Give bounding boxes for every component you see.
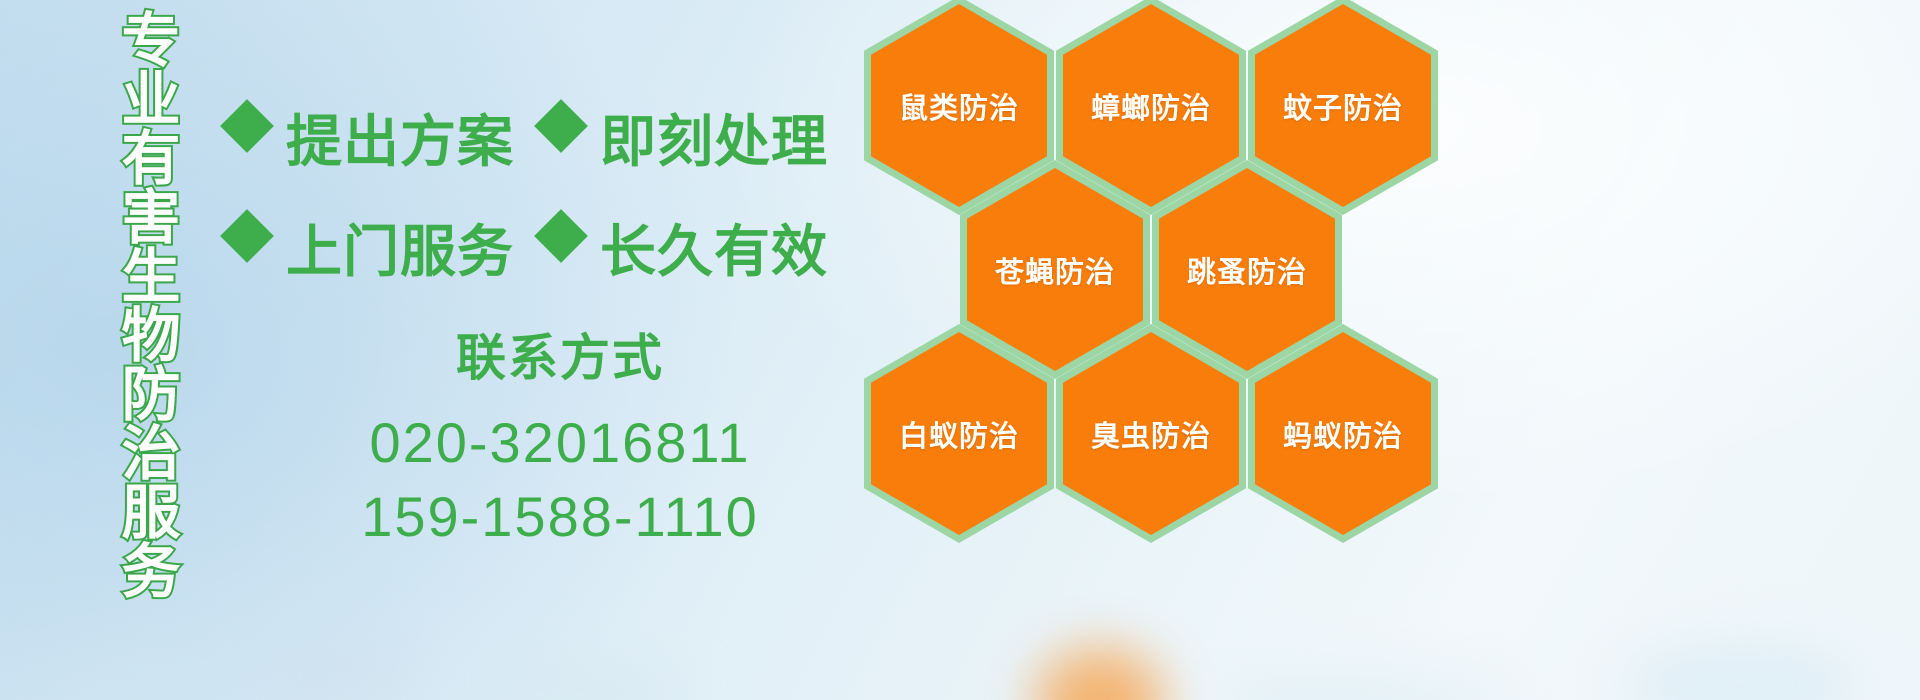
hex-inner: 跳蚤防治 [1159,168,1335,371]
service-hex-label: 蚂蚁防治 [1283,413,1403,455]
feature-list: 提出方案 即刻处理 上门服务 长久有效 [228,82,868,302]
hex-inner: 苍蝇防治 [967,168,1143,371]
feature-item: 长久有效 [542,207,828,288]
feature-row: 提出方案 即刻处理 [228,82,868,192]
contact-block: 联系方式 020-32016811 159-1588-1110 [300,318,820,555]
hex-inner: 蚊子防治 [1255,4,1431,207]
hex-inner: 白蚁防治 [871,332,1047,535]
pest-control-banner: 专 业 有 害 生 物 防 治 服 务 提出方案 即刻处理 上门服务 [0,0,1920,700]
hex-inner: 蟑螂防治 [1063,4,1239,207]
feature-item: 即刻处理 [542,97,828,178]
hex-inner: 臭虫防治 [1063,332,1239,535]
service-hex-label: 苍蝇防治 [995,249,1115,291]
decorative-blob-orange [1035,648,1165,700]
decorative-blob [430,655,690,700]
feature-label: 上门服务 [286,207,514,288]
vertical-headline-char: 物 [121,307,180,366]
vertical-headline-char: 业 [121,71,180,130]
service-hex-label: 跳蚤防治 [1187,249,1307,291]
contact-title: 联系方式 [300,318,820,390]
service-hex-label: 蚊子防治 [1283,85,1403,127]
service-hex-label: 白蚁防治 [899,413,1019,455]
contact-phone-mobile[interactable]: 159-1588-1110 [300,480,820,554]
service-honeycomb: 鼠类防治 蟑螂防治 蚊子防治 苍蝇防治 跳蚤防治 白蚁防治 [862,0,1462,544]
service-hex-label: 蟑螂防治 [1091,85,1211,127]
vertical-headline-char: 害 [121,189,180,248]
service-hex-label: 臭虫防治 [1091,413,1211,455]
decorative-blob [250,630,420,700]
vertical-headline-char: 务 [121,543,180,602]
service-hex-label: 鼠类防治 [899,85,1019,127]
vertical-headline-char: 治 [121,425,180,484]
vertical-headline-char: 服 [121,484,180,543]
vertical-headline-char: 有 [121,130,180,189]
decorative-blob [1210,668,1510,700]
contact-phone-landline[interactable]: 020-32016811 [300,406,820,480]
feature-label: 提出方案 [286,97,514,178]
feature-label: 即刻处理 [600,97,828,178]
vertical-headline-char: 专 [121,12,180,71]
vertical-headline-char: 防 [121,366,180,425]
decorative-blob [1620,640,1860,700]
hex-inner: 鼠类防治 [871,4,1047,207]
hex-inner: 蚂蚁防治 [1255,332,1431,535]
vertical-headline-char: 生 [121,248,180,307]
feature-row: 上门服务 长久有效 [228,192,868,302]
feature-item: 提出方案 [228,97,514,178]
decorative-blob [60,660,210,700]
feature-label: 长久有效 [600,207,828,288]
feature-item: 上门服务 [228,207,514,288]
vertical-headline: 专 业 有 害 生 物 防 治 服 务 [108,12,194,552]
